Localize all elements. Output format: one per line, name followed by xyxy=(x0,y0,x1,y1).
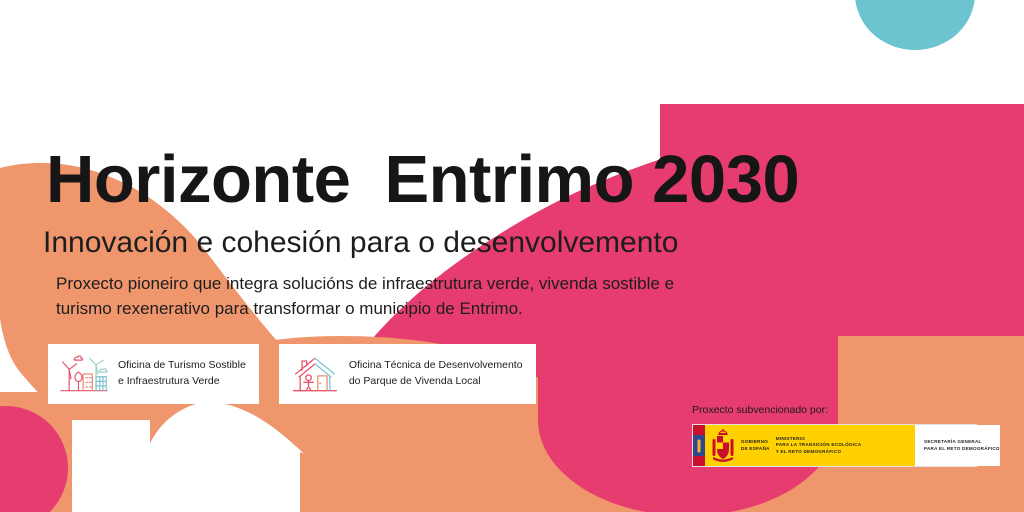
banner-subtitle: Innovación e cohesión para o desenvolvem… xyxy=(43,226,678,259)
badge-turismo-label: Oficina de Turismo Sostible e Infraestru… xyxy=(118,358,246,390)
secretaria-general-text: SECRETARÍA GENERAL PARA EL RETO DEMOGRÁF… xyxy=(924,439,1000,452)
badge-turismo-sostible[interactable]: Oficina de Turismo Sostible e Infraestru… xyxy=(48,344,259,404)
flag-band-blue-middle xyxy=(693,435,705,456)
lead-line-1: Proxecto pioneiro que integra solucións … xyxy=(56,272,674,297)
funding-block: Proxecto subvencionado por: xyxy=(692,404,977,467)
lead-line-2: turismo rexenerativo para transformar o … xyxy=(56,297,674,322)
badge-turismo-line-1: Oficina de Turismo Sostible xyxy=(118,358,246,374)
promo-banner: Horizonte Entrimo 2030 Innovación e cohe… xyxy=(0,0,1024,512)
ministerio-line-3: Y EL RETO DEMOGRÁFICO xyxy=(776,449,862,456)
spain-coat-of-arms-icon xyxy=(711,429,735,463)
banner-lead-paragraph: Proxecto pioneiro que integra solucións … xyxy=(56,272,674,321)
funding-label: Proxecto subvencionado por: xyxy=(692,404,977,416)
badge-vivenda-line-1: Oficina Técnica de Desenvolvemento xyxy=(349,358,523,374)
gov-logo-yellow-panel: GOBIERNO DE ESPAÑA MINISTERIO PARA LA TR… xyxy=(705,425,915,466)
badge-vivenda-label: Oficina Técnica de Desenvolvemento do Pa… xyxy=(349,358,523,390)
title-word-entrimo-2030: Entrimo 2030 xyxy=(384,146,799,213)
badge-vivenda-line-2: do Parque de Vivenda Local xyxy=(349,374,523,390)
flag-band-red-bottom xyxy=(693,456,705,466)
title-word-horizonte: Horizonte xyxy=(46,146,350,213)
gov-logo-white-panel: SECRETARÍA GENERAL PARA EL RETO DEMOGRÁF… xyxy=(915,425,1000,466)
secretaria-line-2: PARA EL RETO DEMOGRÁFICO xyxy=(924,446,1000,453)
ministerio-text: MINISTERIO PARA LA TRANSICIÓN ECOLÓGICA … xyxy=(776,436,862,456)
sustainable-city-wind-turbine-icon xyxy=(59,353,109,395)
gobierno-line-2: DE ESPAÑA xyxy=(741,446,770,453)
banner-content: Horizonte Entrimo 2030 Innovación e cohe… xyxy=(0,0,1024,512)
gobierno-line-1: GOBIERNO xyxy=(741,439,770,446)
ministerio-line-2: PARA LA TRANSICIÓN ECOLÓGICA xyxy=(776,442,862,449)
gobierno-de-espana-text: GOBIERNO DE ESPAÑA xyxy=(741,439,770,452)
house-with-person-icon xyxy=(290,353,340,395)
flag-band-red-top xyxy=(693,425,705,435)
spain-flag-stripe-icon xyxy=(693,425,705,466)
badge-turismo-line-2: e Infraestrutura Verde xyxy=(118,374,246,390)
office-badge-list: Oficina de Turismo Sostible e Infraestru… xyxy=(48,344,536,404)
government-of-spain-logo: GOBIERNO DE ESPAÑA MINISTERIO PARA LA TR… xyxy=(692,424,977,467)
page-title: Horizonte Entrimo 2030 xyxy=(46,146,799,213)
badge-vivenda-local[interactable]: Oficina Técnica de Desenvolvemento do Pa… xyxy=(279,344,536,404)
